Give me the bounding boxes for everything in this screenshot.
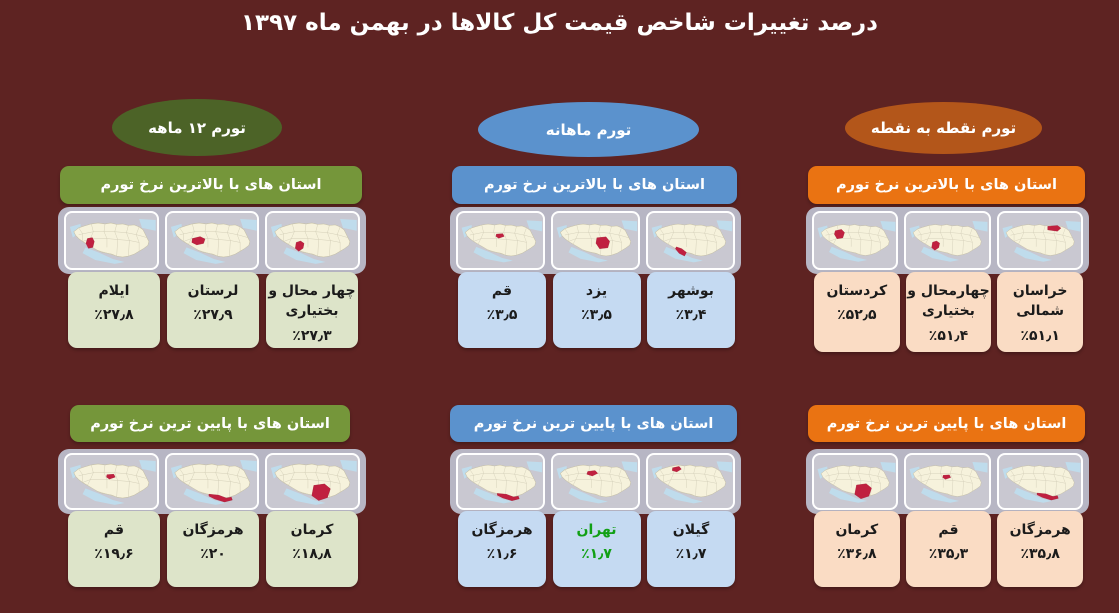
province-card[interactable]: کرمان٪۱۸٫۸	[266, 511, 358, 587]
province-name: قم	[938, 520, 958, 540]
province-name: تهران	[577, 520, 617, 540]
province-value: ٪۵۱٫۴	[929, 326, 968, 346]
province-value: ٪۲۷٫۳	[292, 326, 331, 346]
province-card[interactable]: هرمزگان٪۲۰	[167, 511, 259, 587]
province-card[interactable]: قم٪۱۹٫۶	[68, 511, 160, 587]
province-name: ایلام	[99, 281, 130, 301]
iran-map-icon-yazd	[551, 211, 640, 270]
map-strip-monthly-highest	[450, 207, 741, 274]
province-value: ٪۳٫۵	[487, 305, 518, 325]
province-card[interactable]: بوشهر٪۳٫۴	[647, 272, 735, 348]
province-card[interactable]: لرستان٪۲۷٫۹	[167, 272, 259, 348]
province-card[interactable]: خراسان شمالی٪۵۱٫۱	[997, 272, 1083, 352]
province-value: ٪۲۷٫۸	[94, 305, 133, 325]
province-name: خراسان شمالی	[997, 281, 1083, 322]
province-name: چهارمحال و بختیاری	[906, 281, 992, 322]
province-value: ٪۲۰	[200, 544, 226, 564]
province-value: ٪۳۵٫۳	[929, 544, 968, 564]
iran-map-icon-qom	[904, 453, 990, 510]
province-card[interactable]: گیلان٪۱٫۷	[647, 511, 735, 587]
section-header-twelve-month-highest: استان های با بالاترین نرخ تورم	[60, 166, 362, 204]
province-name: هرمزگان	[471, 520, 532, 540]
province-name: گیلان	[673, 520, 709, 540]
province-name: قم	[492, 281, 512, 301]
province-value: ٪۳٫۴	[676, 305, 707, 325]
province-name: چهار محال و بختیاری	[266, 281, 358, 322]
province-name: کرمان	[291, 520, 334, 540]
section-header-monthly-highest: استان های با بالاترین نرخ تورم	[452, 166, 737, 204]
province-value: ٪۳۶٫۸	[837, 544, 876, 564]
iran-map-icon-hormozgan	[456, 453, 545, 510]
province-cards-twelve-month-lowest: کرمان٪۱۸٫۸هرمزگان٪۲۰قم٪۱۹٫۶	[68, 511, 358, 587]
iran-map-icon-qom	[456, 211, 545, 270]
iran-map-icon-gilan	[646, 453, 735, 510]
province-cards-twelve-month-highest: چهار محال و بختیاری٪۲۷٫۳لرستان٪۲۷٫۹ایلام…	[68, 272, 358, 348]
iran-map-icon-qom	[64, 453, 159, 510]
section-header-point-to-point-highest: استان های با بالاترین نرخ تورم	[808, 166, 1085, 204]
province-cards-monthly-highest: بوشهر٪۳٫۴یزد٪۳٫۵قم٪۳٫۵	[458, 272, 735, 348]
iran-map-icon-kerman	[265, 453, 360, 510]
province-value: ٪۵۲٫۵	[837, 305, 876, 325]
province-cards-point-to-point-lowest: هرمزگان٪۳۵٫۸قم٪۳۵٫۳کرمان٪۳۶٫۸	[814, 511, 1083, 587]
iran-map-icon-chaharmahal	[265, 211, 360, 270]
map-strip-point-to-point-lowest	[806, 449, 1089, 514]
iran-map-icon-north-khorasan	[997, 211, 1083, 270]
iran-map-icon-hormozgan	[997, 453, 1083, 510]
province-card[interactable]: قم٪۳۵٫۳	[906, 511, 992, 587]
province-value: ٪۱۸٫۸	[292, 544, 331, 564]
province-name: لرستان	[188, 281, 239, 301]
infographic-canvas: درصد تغییرات شاخص قیمت کل کالاها در بهمن…	[0, 0, 1119, 613]
province-name: کردستان	[826, 281, 887, 301]
province-name: بوشهر	[668, 281, 714, 301]
iran-map-icon-kerman	[812, 453, 898, 510]
province-name: یزد	[586, 281, 607, 301]
province-value: ٪۳٫۵	[581, 305, 612, 325]
province-value: ٪۱۹٫۶	[94, 544, 133, 564]
iran-map-icon-hormozgan	[165, 453, 260, 510]
province-cards-point-to-point-highest: خراسان شمالی٪۵۱٫۱چهارمحال و بختیاری٪۵۱٫۴…	[814, 272, 1083, 352]
column-heading-twelve-month: تورم ۱۲ ماهه	[112, 99, 282, 156]
section-header-monthly-lowest: استان های با پایین ترین نرخ تورم	[450, 405, 737, 442]
province-value: ٪۱٫۶	[487, 544, 518, 564]
map-strip-point-to-point-highest	[806, 207, 1089, 274]
province-card[interactable]: تهران٪۱٫۷	[553, 511, 641, 587]
province-name: هرمزگان	[182, 520, 243, 540]
province-name: قم	[104, 520, 124, 540]
section-header-twelve-month-lowest: استان های با پایین ترین نرخ تورم	[70, 405, 350, 442]
iran-map-icon-chaharmahal	[904, 211, 990, 270]
province-value: ٪۳۵٫۸	[1020, 544, 1059, 564]
province-card[interactable]: هرمزگان٪۱٫۶	[458, 511, 546, 587]
map-strip-monthly-lowest	[450, 449, 741, 514]
province-name: کرمان	[835, 520, 878, 540]
map-strip-twelve-month-highest	[58, 207, 366, 274]
province-value: ٪۱٫۷	[676, 544, 707, 564]
province-card[interactable]: کردستان٪۵۲٫۵	[814, 272, 900, 352]
iran-map-icon-kordestan	[812, 211, 898, 270]
column-heading-point-to-point: تورم نقطه به نقطه	[845, 102, 1042, 154]
province-card[interactable]: چهارمحال و بختیاری٪۵۱٫۴	[906, 272, 992, 352]
province-value: ٪۱٫۷	[581, 544, 612, 564]
column-heading-monthly: تورم ماهانه	[478, 102, 699, 157]
province-cards-monthly-lowest: گیلان٪۱٫۷تهران٪۱٫۷هرمزگان٪۱٫۶	[458, 511, 735, 587]
section-header-point-to-point-lowest: استان های با پایین ترین نرخ تورم	[808, 405, 1085, 442]
province-card[interactable]: ایلام٪۲۷٫۸	[68, 272, 160, 348]
province-card[interactable]: قم٪۳٫۵	[458, 272, 546, 348]
province-card[interactable]: کرمان٪۳۶٫۸	[814, 511, 900, 587]
province-card[interactable]: یزد٪۳٫۵	[553, 272, 641, 348]
province-card[interactable]: چهار محال و بختیاری٪۲۷٫۳	[266, 272, 358, 348]
page-title: درصد تغییرات شاخص قیمت کل کالاها در بهمن…	[0, 8, 1119, 39]
map-strip-twelve-month-lowest	[58, 449, 366, 514]
iran-map-icon-bushehr	[646, 211, 735, 270]
province-value: ٪۵۱٫۱	[1020, 326, 1059, 346]
iran-map-icon-tehran	[551, 453, 640, 510]
iran-map-icon-lorestan	[165, 211, 260, 270]
province-card[interactable]: هرمزگان٪۳۵٫۸	[997, 511, 1083, 587]
province-value: ٪۲۷٫۹	[193, 305, 232, 325]
province-name: هرمزگان	[1010, 520, 1071, 540]
iran-map-icon-ilam	[64, 211, 159, 270]
